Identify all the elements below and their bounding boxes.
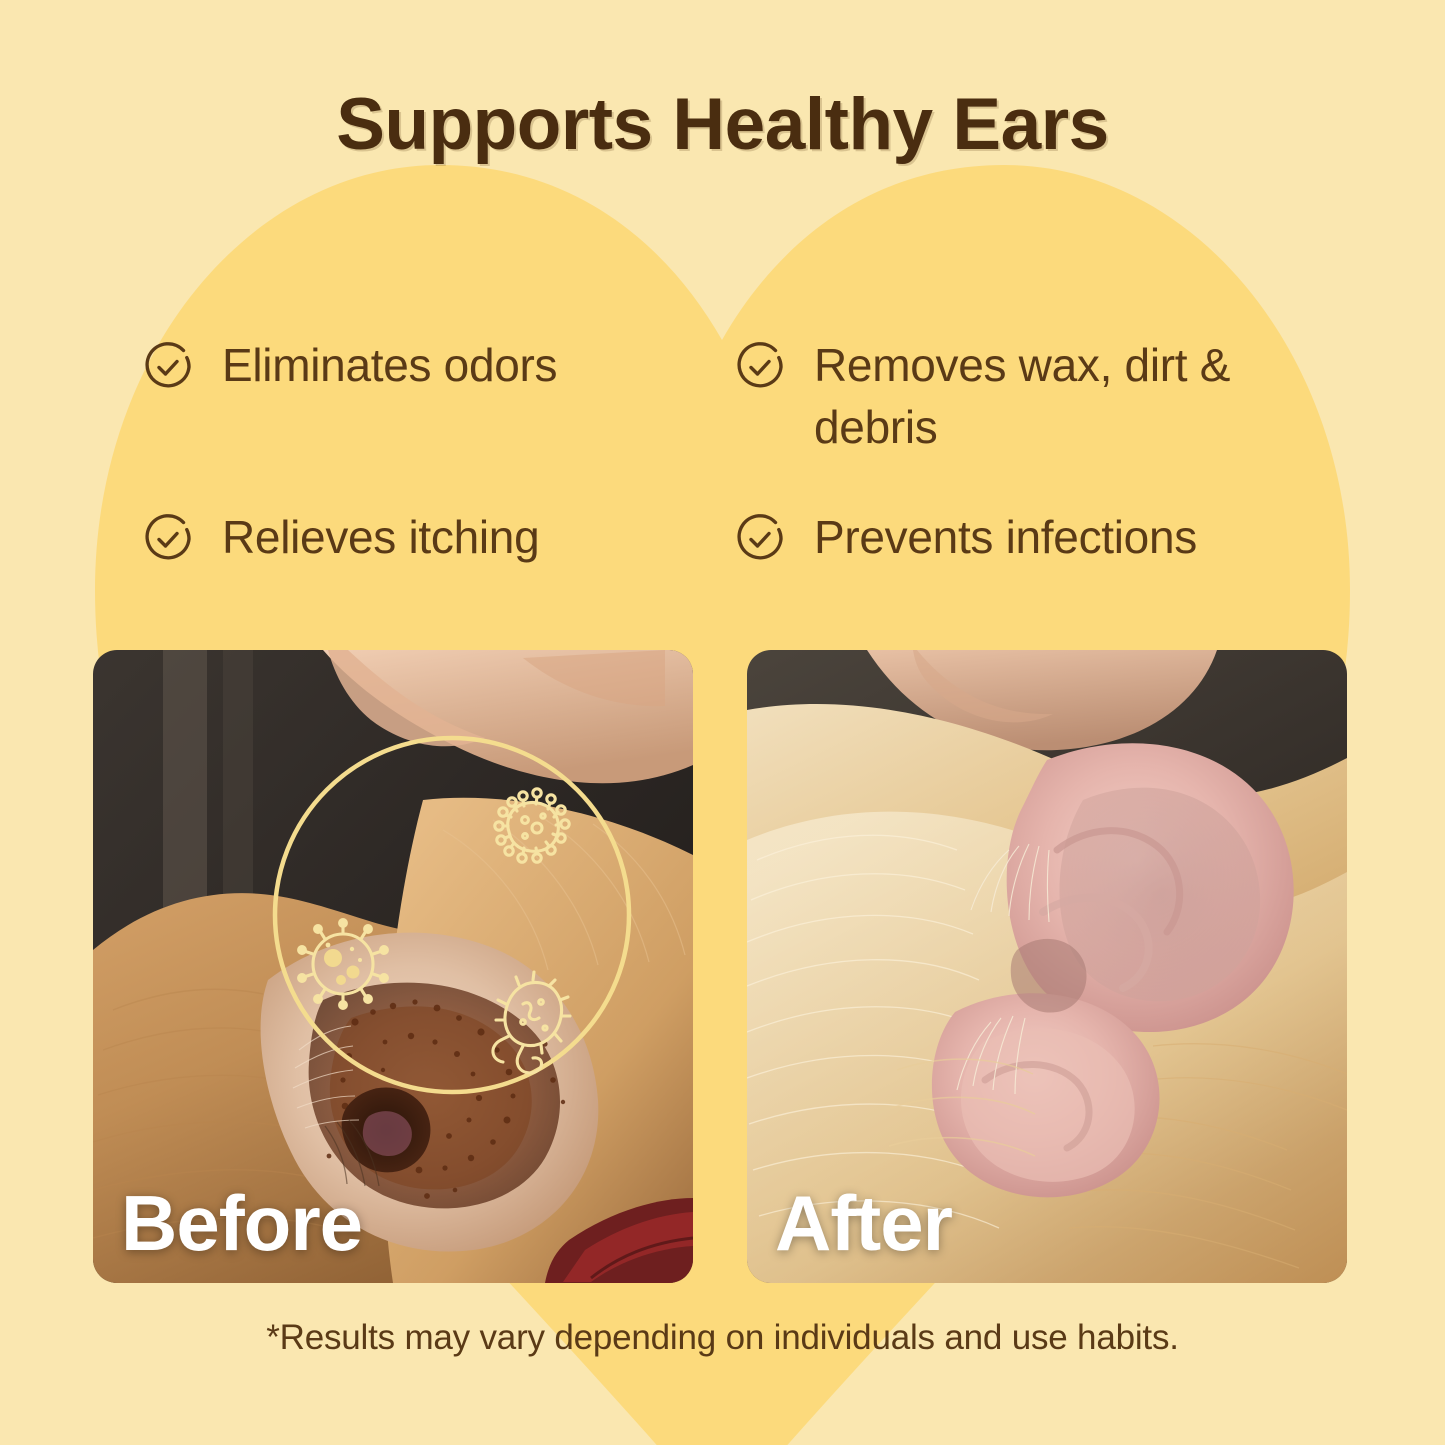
benefits-list: Eliminates odors Removes wax, dirt & deb…	[140, 335, 1320, 679]
before-after-comparison: Before	[93, 650, 1352, 1283]
check-circle-icon	[140, 339, 196, 395]
page-title: Supports Healthy Ears	[0, 83, 1445, 166]
benefit-label: Relieves itching	[222, 507, 539, 569]
infographic-page: Supports Healthy Ears Eliminates odors R…	[0, 0, 1445, 1445]
benefit-item-removes-wax-dirt-debris: Removes wax, dirt & debris	[732, 335, 1320, 507]
results-disclaimer: *Results may vary depending on individua…	[0, 1318, 1445, 1358]
check-circle-icon	[732, 511, 788, 567]
benefit-item-eliminates-odors: Eliminates odors	[140, 335, 732, 507]
benefit-label: Eliminates odors	[222, 335, 557, 397]
benefit-label: Removes wax, dirt & debris	[814, 335, 1320, 458]
before-label: Before	[121, 1178, 362, 1269]
after-label: After	[775, 1178, 952, 1269]
benefit-label: Prevents infections	[814, 507, 1197, 569]
before-image-card: Before	[93, 650, 693, 1283]
check-circle-icon	[732, 339, 788, 395]
after-image-card: After	[747, 650, 1347, 1283]
check-circle-icon	[140, 511, 196, 567]
